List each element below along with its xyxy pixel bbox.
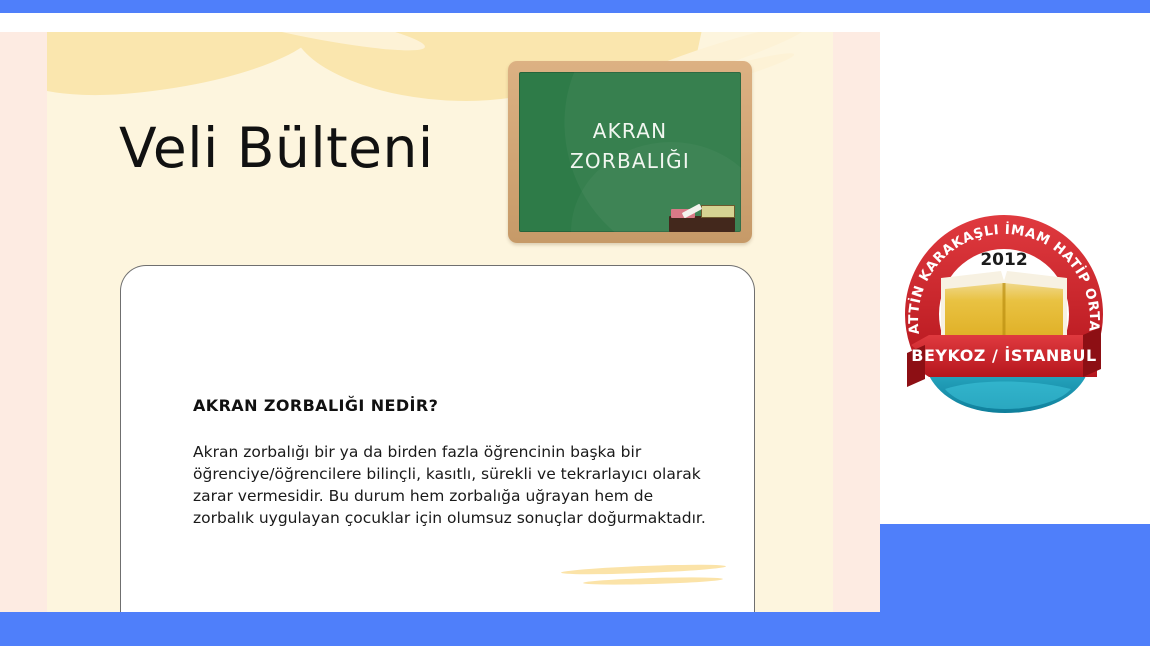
content-card: AKRAN ZORBALIĞI NEDİR? Akran zorbalığı b…: [120, 265, 755, 612]
right-blue-block: [880, 524, 1150, 612]
card-heading: AKRAN ZORBALIĞI NEDİR?: [193, 396, 438, 415]
swoosh-decoration-icon: [561, 563, 726, 576]
logo-banner-text: BEYKOZ / İSTANBUL: [911, 346, 1096, 365]
chalkboard-line-2: ZORBALIĞI: [519, 146, 741, 176]
chalkboard-line-1: AKRAN: [519, 116, 741, 146]
yellow-eraser-icon: [701, 205, 735, 218]
chalkboard-surface: AKRAN ZORBALIĞI: [519, 72, 741, 232]
card-body: Akran zorbalığı bir ya da birden fazla ö…: [193, 441, 713, 529]
chalkboard-illustration: AKRAN ZORBALIĞI: [508, 61, 752, 243]
brush-highlight-icon: [197, 32, 428, 60]
logo-year: 2012: [980, 250, 1027, 270]
page-title: Veli Bülteni: [119, 116, 434, 180]
school-logo-svg: SELAHATTİN KARAKAŞLI İMAM HATİP ORTAOKUL…: [893, 203, 1115, 425]
top-blue-bar: [0, 0, 1150, 13]
slide-background: Veli Bülteni AKRAN ZORBALIĞI AKRAN ZORBA…: [47, 32, 833, 612]
card-paragraph: Akran zorbalığı bir ya da birden fazla ö…: [193, 441, 713, 529]
swoosh-decoration-icon: [583, 576, 723, 586]
brush-stroke-icon: [47, 32, 331, 104]
chalkboard-text: AKRAN ZORBALIĞI: [519, 116, 741, 176]
school-logo: SELAHATTİN KARAKAŞLI İMAM HATİP ORTAOKUL…: [893, 203, 1115, 425]
chalk-tray-icon: [669, 216, 735, 232]
bottom-blue-bar: [0, 612, 1150, 646]
slide-canvas: Veli Bülteni AKRAN ZORBALIĞI AKRAN ZORBA…: [0, 32, 880, 612]
